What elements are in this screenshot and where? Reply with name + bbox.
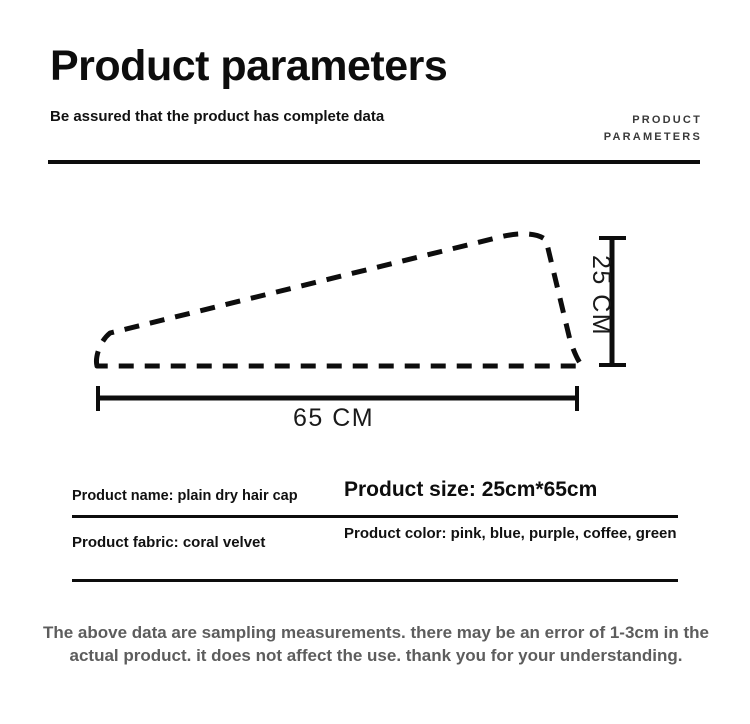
spec-product-name: Product name: plain dry hair cap [72, 478, 344, 505]
product-outline-path [97, 234, 582, 366]
corner-label-line-1: PRODUCT [604, 112, 702, 129]
spec-product-color: Product color: pink, blue, purple, coffe… [344, 518, 678, 542]
height-dimension-label: 25 CM [586, 255, 615, 336]
corner-label-line-2: PARAMETERS [604, 129, 702, 146]
width-dimension-label: 65 CM [293, 404, 374, 433]
page-subtitle: Be assured that the product has complete… [50, 108, 384, 125]
header-divider [48, 160, 700, 164]
spec-product-size: Product size: 25cm*65cm [344, 478, 678, 501]
table-row: Product fabric: coral velvet Product col… [72, 518, 678, 579]
spec-table-divider-2 [72, 579, 678, 582]
specification-table: Product name: plain dry hair cap Product… [72, 478, 678, 582]
product-dimension-diagram [0, 200, 750, 450]
disclaimer-note: The above data are sampling measurements… [26, 622, 726, 668]
corner-brand-label: PRODUCT PARAMETERS [604, 112, 702, 146]
spec-product-fabric: Product fabric: coral velvet [72, 518, 344, 551]
page-title: Product parameters [50, 44, 447, 89]
table-row: Product name: plain dry hair cap Product… [72, 478, 678, 515]
